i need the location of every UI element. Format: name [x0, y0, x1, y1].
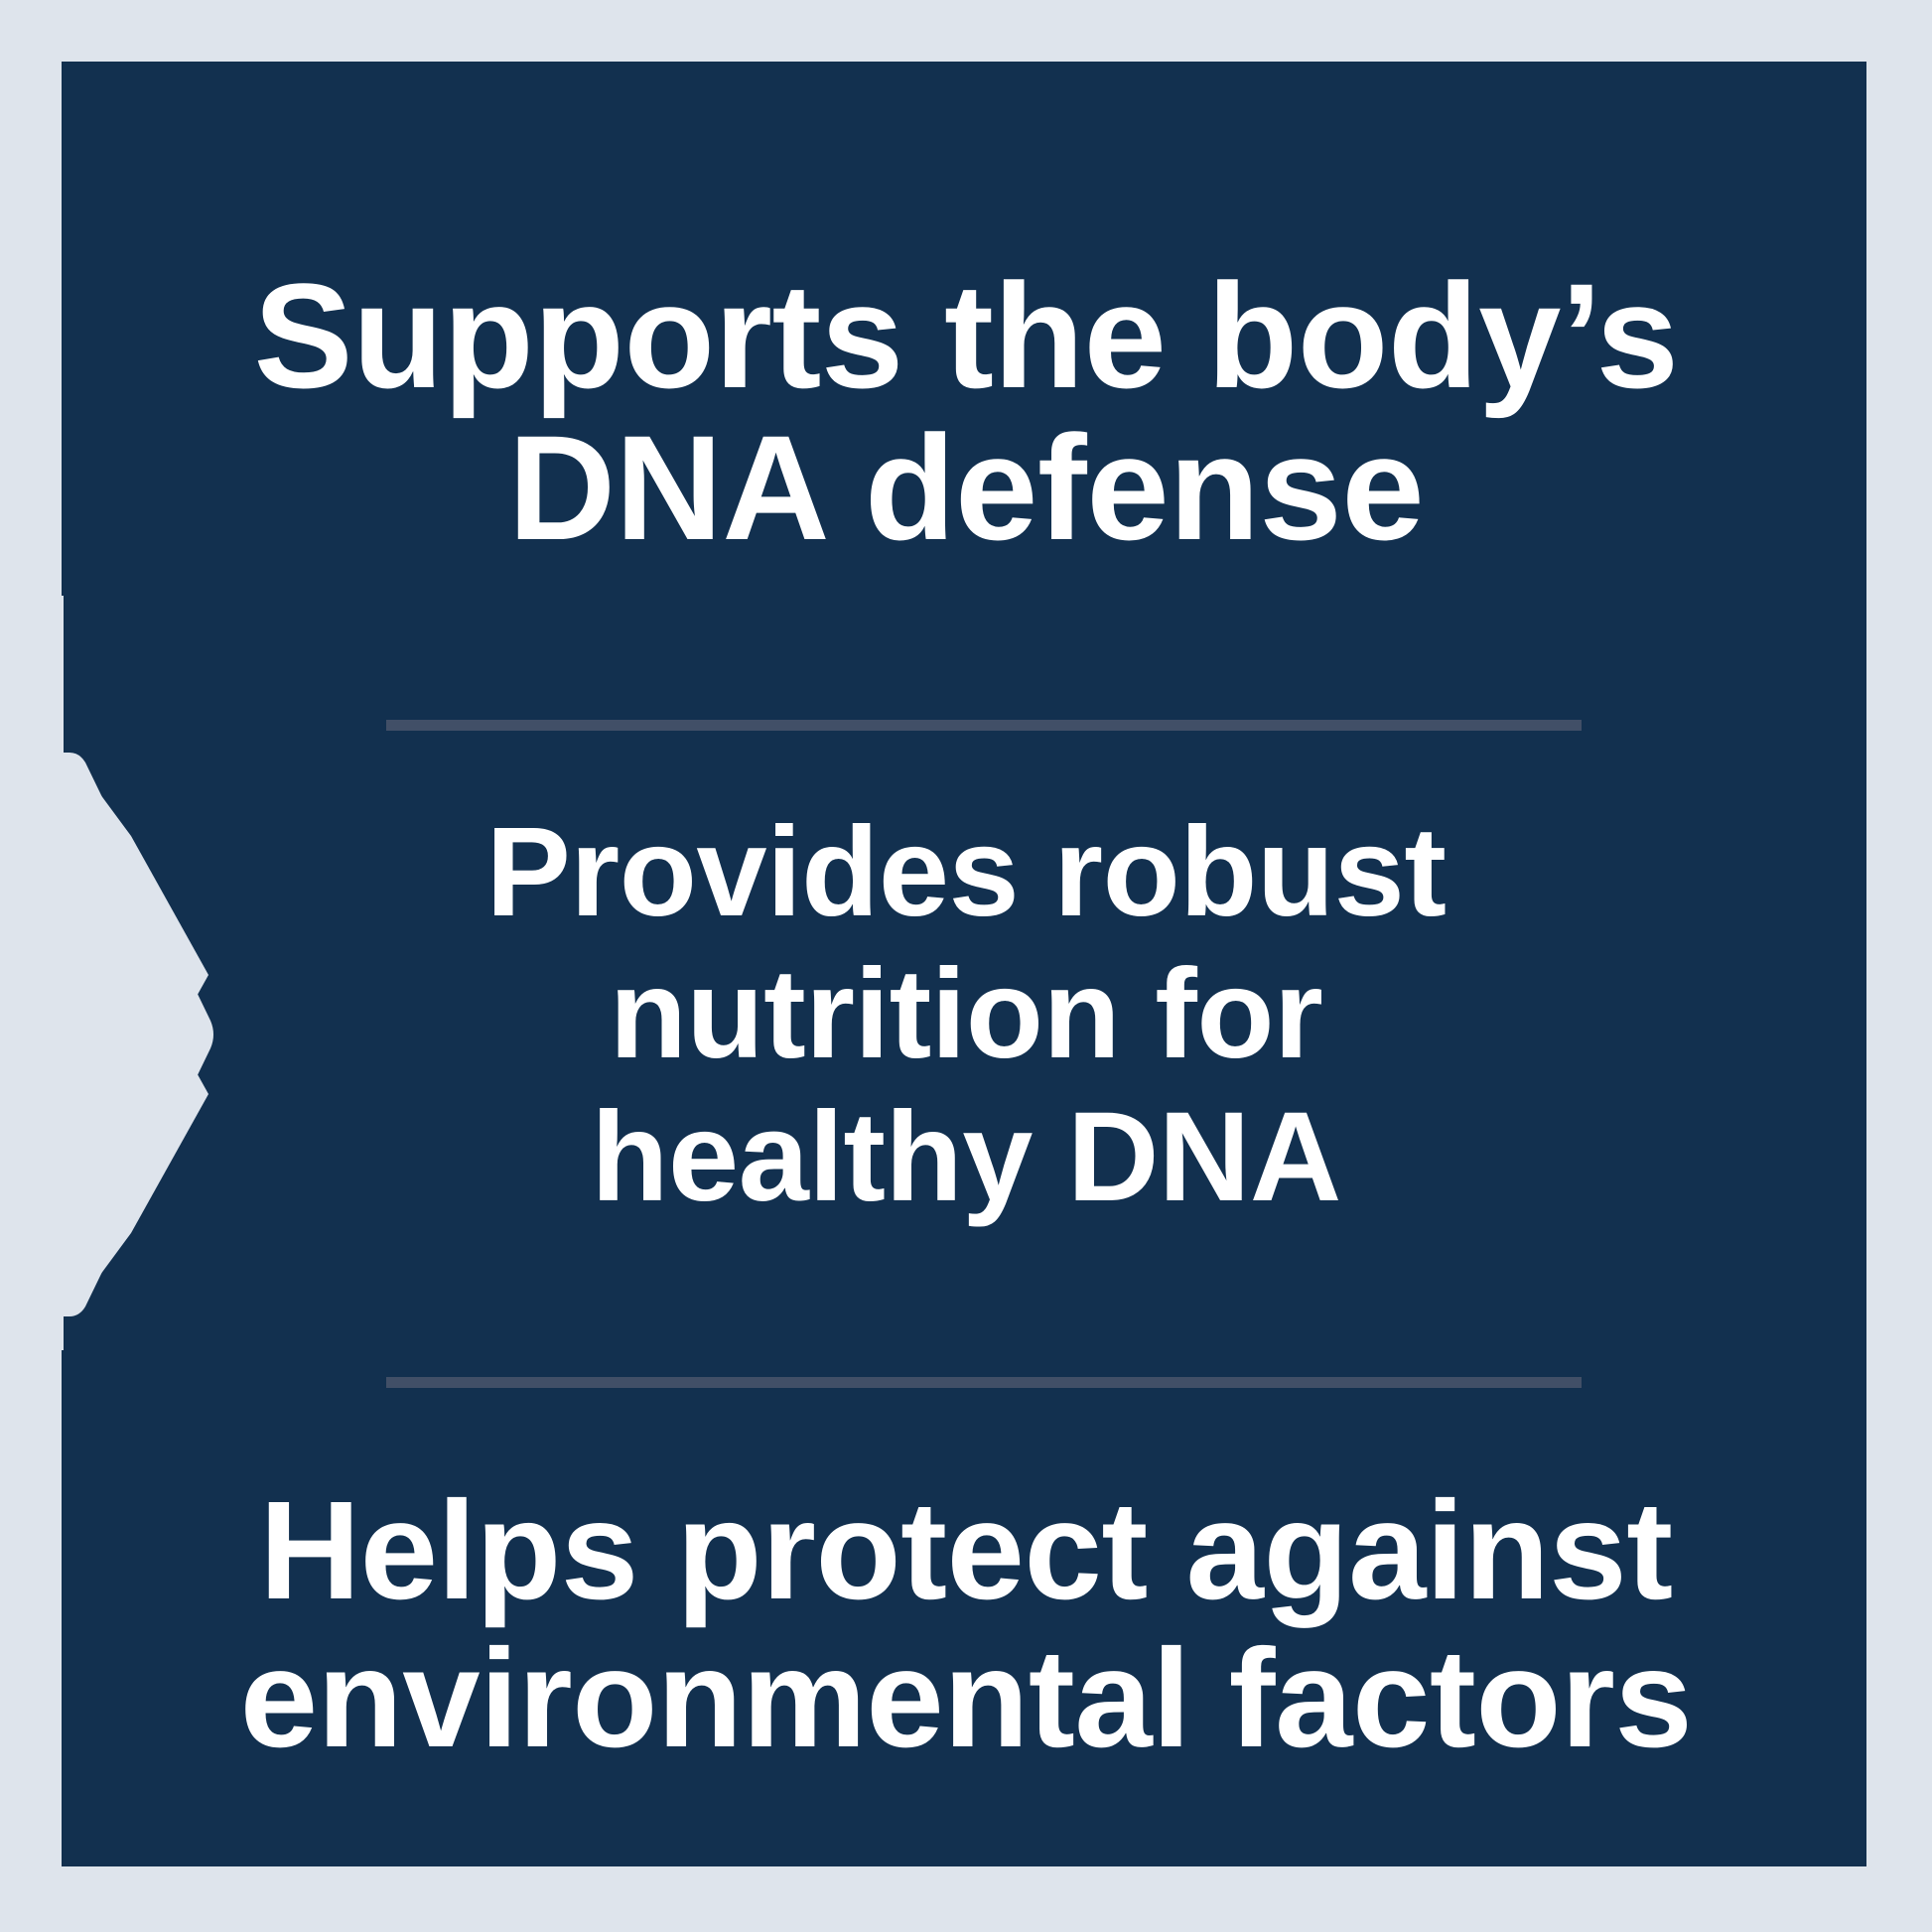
benefit-line: Helps protect against: [62, 1476, 1866, 1624]
benefit-line: healthy DNA: [62, 1086, 1866, 1228]
benefit-item-environmental-protection: Helps protect against environmental fact…: [62, 1476, 1866, 1773]
benefit-line: nutrition for: [62, 943, 1866, 1085]
chevron-left-spur: [0, 596, 64, 1350]
benefit-line: Provides robust: [62, 801, 1866, 943]
benefit-divider-1: [386, 720, 1582, 731]
benefit-divider-2: [386, 1377, 1582, 1388]
benefit-line: DNA defense: [62, 412, 1866, 564]
benefits-panel: Supports the body’s DNA defense Provides…: [62, 62, 1866, 1866]
benefit-line: Supports the body’s: [62, 260, 1866, 412]
benefit-item-dna-defense: Supports the body’s DNA defense: [62, 260, 1866, 564]
benefit-item-robust-nutrition: Provides robust nutrition for healthy DN…: [62, 801, 1866, 1228]
slide-canvas: Supports the body’s DNA defense Provides…: [0, 0, 1932, 1932]
benefit-line: environmental factors: [62, 1624, 1866, 1772]
